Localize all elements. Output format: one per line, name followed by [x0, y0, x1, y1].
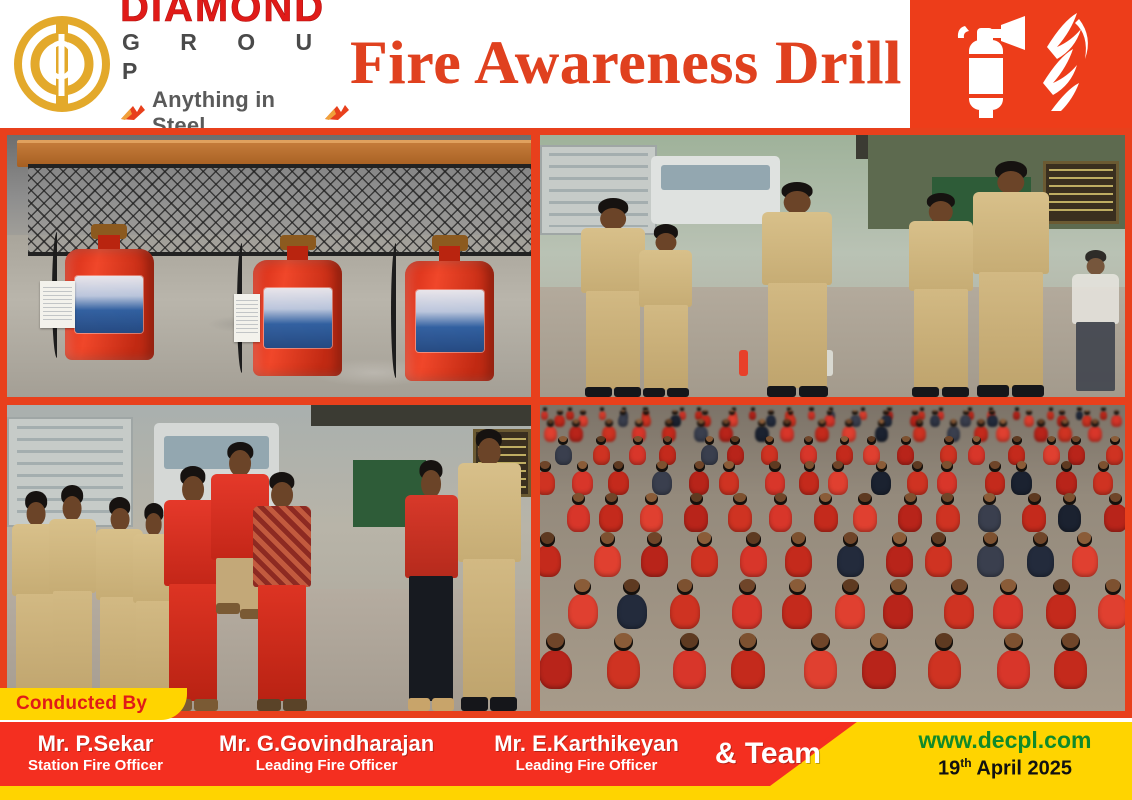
crowd-person	[541, 411, 548, 420]
header-content: DIAMOND G R O U P Anything in Steel	[0, 0, 910, 128]
crowd-person	[814, 504, 838, 532]
crowd-person-head	[697, 419, 705, 427]
poster-footer: Conducted By Mr. P.Sekar Station Fire Of…	[0, 718, 1132, 800]
officer-name: Mr. P.Sekar	[28, 732, 163, 756]
crowd-person	[1111, 415, 1122, 428]
crowd-person	[1011, 471, 1031, 495]
crowd-person-head	[999, 419, 1007, 427]
photo-gallery	[0, 128, 1132, 718]
crowd-person-head	[746, 532, 761, 547]
crowd-person	[640, 504, 664, 532]
crowd-person	[993, 594, 1023, 629]
crowd-person-head	[1061, 461, 1072, 472]
crowd-person-head	[876, 461, 887, 472]
crowd-person	[978, 504, 1002, 532]
crowd-person	[937, 471, 957, 495]
crowd-person-head	[1004, 633, 1023, 651]
crowd-person-head	[843, 532, 858, 547]
crowd-person	[1034, 426, 1048, 442]
diamond-group-emblem-icon	[14, 16, 110, 112]
crowd-person	[808, 411, 815, 420]
crowd-person-head	[832, 461, 843, 472]
crowd-person-head	[1098, 461, 1109, 472]
crowd-person	[719, 471, 739, 495]
officer-entry: Mr. E.Karthikeyan Leading Fire Officer	[484, 732, 689, 775]
crowd-person-head	[722, 419, 730, 427]
fire-awareness-drill-poster: DIAMOND G R O U P Anything in Steel	[0, 0, 1132, 800]
conducted-by-tab: Conducted By	[0, 688, 187, 720]
crowd-person-head	[647, 532, 662, 547]
crowd-person	[835, 594, 865, 629]
crowd-person	[1022, 504, 1046, 532]
crowd-person-head	[1091, 419, 1099, 427]
crowd-person	[886, 545, 913, 577]
crowd-person	[540, 650, 572, 689]
crowd-person-head	[842, 579, 859, 595]
crowd-person	[853, 504, 877, 532]
officer-entry: Mr. P.Sekar Station Fire Officer	[18, 732, 173, 775]
flame-swoosh-icon-left	[120, 104, 146, 121]
crowd-person	[928, 650, 961, 689]
fire-extinguisher-icon	[943, 10, 1027, 118]
crowd-person-head	[1053, 579, 1070, 595]
crowd-person-head	[680, 633, 699, 651]
date-day: 19	[938, 758, 960, 780]
crowd-person	[765, 471, 785, 495]
crowd-person-head	[758, 419, 766, 427]
crowd-person	[883, 594, 913, 629]
crowd-person	[815, 426, 829, 442]
crowd-person-head	[818, 419, 826, 427]
crowd-person-head	[878, 419, 886, 427]
crowd-person-head	[912, 461, 923, 472]
crowd-person	[566, 411, 573, 420]
crowd-person	[728, 504, 752, 532]
crowd-person	[540, 471, 555, 495]
officer-name: Mr. G.Govindharajan	[219, 732, 434, 756]
crowd-person-head	[540, 461, 551, 472]
crowd-person	[670, 594, 700, 629]
crowd-person	[996, 426, 1010, 442]
crowd-person-head	[697, 532, 712, 547]
crowd-person-head	[977, 419, 985, 427]
crowd-person	[569, 426, 583, 442]
crowd-person	[875, 426, 889, 442]
crowd-person-head	[557, 410, 563, 416]
crowd-person	[897, 445, 914, 465]
logo-wordmark: DIAMOND G R O U P Anything in Steel	[120, 0, 350, 139]
crowd-person-head	[845, 419, 853, 427]
crowd-person	[673, 650, 706, 689]
crowd-person-head	[577, 461, 588, 472]
crowd-person-head	[605, 419, 613, 427]
crowd-person	[785, 545, 812, 577]
crowd-person	[731, 650, 764, 689]
title-container: Fire Awareness Drill	[350, 29, 910, 99]
crowd-person	[862, 650, 895, 689]
crowd-person	[769, 504, 793, 532]
crowd-person	[540, 545, 561, 577]
crowd-person-head	[643, 410, 649, 416]
crowd-person	[689, 471, 709, 495]
website-link[interactable]: www.decpl.com	[919, 727, 1092, 753]
crowd-person	[944, 594, 974, 629]
crowd-person	[572, 471, 592, 495]
crowd-person-head	[783, 419, 791, 427]
date-suffix: th	[960, 756, 971, 770]
crowd-person-head	[892, 532, 907, 547]
crowd-person-head	[694, 461, 705, 472]
crowd-person-head	[890, 579, 907, 595]
crowd-person-head	[613, 461, 624, 472]
officer-role: Leading Fire Officer	[219, 756, 434, 776]
team-label: & Team	[715, 737, 821, 771]
crowd-person	[1072, 545, 1099, 577]
company-logo: DIAMOND G R O U P Anything in Steel	[0, 0, 350, 139]
crowd-person	[554, 415, 565, 428]
crowd-person-head	[540, 532, 555, 547]
crowd-person	[871, 471, 891, 495]
crowd-person	[607, 650, 640, 689]
crowd-person	[618, 415, 629, 428]
crowd-person	[1104, 504, 1125, 532]
crowd-person	[977, 545, 1004, 577]
crowd-person-head	[620, 410, 626, 416]
crowd-person	[766, 415, 777, 428]
officer-role: Station Fire Officer	[28, 756, 163, 776]
officer-role: Leading Fire Officer	[494, 756, 679, 776]
crowd-person-head	[739, 579, 756, 595]
crowd-person	[594, 545, 621, 577]
crowd-person	[925, 545, 952, 577]
crowd-person	[1058, 504, 1082, 532]
crowd-person-head	[983, 532, 998, 547]
crowd-person	[1100, 411, 1107, 420]
crowd-person	[555, 445, 572, 465]
crowd-person-head	[1026, 410, 1032, 416]
crowd-person-head	[1077, 532, 1092, 547]
crowd-person	[960, 415, 971, 428]
crowd-person	[1106, 445, 1123, 465]
photo-officers-demo	[540, 135, 1125, 397]
crowd-person	[568, 594, 598, 629]
crowd-person	[1058, 426, 1072, 442]
crowd-person	[1046, 594, 1076, 629]
crowd-person	[691, 545, 718, 577]
crowd-person	[828, 471, 848, 495]
crowd-person-head	[723, 461, 734, 472]
crowd-person	[701, 445, 718, 465]
photo-audience	[540, 405, 1125, 711]
officer-entry: Mr. G.Govindharajan Leading Fire Officer	[209, 732, 444, 775]
crowd-person-head	[605, 493, 618, 506]
crowd-person-head	[633, 436, 643, 445]
crowd-person	[913, 426, 927, 442]
event-date: 19th April 2025	[938, 756, 1072, 781]
crowd-person-head	[690, 493, 703, 506]
crowd-person-head	[989, 461, 1000, 472]
crowd-person-head	[656, 461, 667, 472]
crowd-person	[1054, 650, 1087, 689]
crowd-person-head	[1061, 419, 1069, 427]
crowd-person-head	[858, 493, 871, 506]
crowd-person	[684, 504, 708, 532]
officer-name: Mr. E.Karthikeyan	[494, 732, 679, 756]
crowd-person-head	[768, 410, 774, 416]
crowd-person	[1047, 411, 1054, 420]
crowd-person-head	[1000, 579, 1017, 595]
crowd-person	[968, 445, 985, 465]
crowd-person-head	[600, 532, 615, 547]
crowd-person-head	[791, 532, 806, 547]
crowd-person-head	[963, 410, 969, 416]
crowd-person-head	[789, 579, 806, 595]
crowd-person	[749, 411, 756, 420]
crowd-person-head	[916, 419, 924, 427]
officers-list: Mr. P.Sekar Station Fire Officer Mr. G.G…	[0, 722, 880, 786]
crowd-person	[732, 594, 762, 629]
crowd-person	[641, 545, 668, 577]
crowd-person	[1027, 545, 1054, 577]
brand-subtitle: G R O U P	[122, 28, 350, 86]
crowd-person	[985, 471, 1005, 495]
photo-rescue-carry	[7, 405, 531, 711]
poster-header: DIAMOND G R O U P Anything in Steel	[0, 0, 1132, 128]
crowd-person	[837, 545, 864, 577]
crowd-person	[1093, 471, 1113, 495]
crowd-person	[567, 504, 591, 532]
poster-title: Fire Awareness Drill	[350, 29, 902, 99]
crowd-person-head	[635, 419, 643, 427]
crowd-person-head	[931, 532, 946, 547]
flame-swoosh-icon-right	[324, 104, 350, 121]
crowd-person-head	[769, 461, 780, 472]
crowd-person	[652, 471, 672, 495]
crowd-person-head	[951, 579, 968, 595]
crowd-person	[593, 445, 610, 465]
crowd-person-head	[1084, 410, 1090, 416]
conducted-by-label: Conducted By	[16, 693, 147, 715]
crowd-person-head	[1033, 532, 1048, 547]
crowd-person-head	[665, 419, 673, 427]
photo-extinguishers	[7, 135, 531, 397]
crowd-person-head	[1028, 493, 1041, 506]
crowd-person	[608, 471, 628, 495]
crowd-person	[544, 426, 558, 442]
crowd-person-head	[941, 461, 952, 472]
crowd-person	[629, 445, 646, 465]
crowd-person	[1088, 426, 1102, 442]
crowd-person	[898, 504, 922, 532]
date-rest: April 2025	[972, 758, 1072, 780]
crowd-person	[1056, 471, 1076, 495]
crowd-person	[1013, 411, 1020, 420]
crowd-person	[799, 471, 819, 495]
crowd-person	[930, 415, 941, 428]
crowd-person	[782, 594, 812, 629]
crowd-person	[780, 426, 794, 442]
crowd-person-head	[1037, 419, 1045, 427]
crowd-person	[617, 594, 647, 629]
crowd-person	[740, 545, 767, 577]
crowd-person	[804, 650, 837, 689]
crowd-person	[1043, 445, 1060, 465]
crowd-person-head	[547, 419, 555, 427]
fire-safety-badge	[910, 0, 1132, 128]
footer-bottom-strip	[0, 786, 1132, 800]
brand-name: DIAMOND	[120, 0, 350, 28]
crowd-person-head	[572, 419, 580, 427]
crowd-person	[907, 471, 927, 495]
crowd-person	[1098, 594, 1125, 629]
crowd-person	[599, 504, 623, 532]
crowd-person	[997, 650, 1030, 689]
contact-block: www.decpl.com 19th April 2025	[890, 722, 1120, 786]
crowd-person	[599, 411, 606, 420]
crowd-person-head	[904, 493, 917, 506]
crowd-person-head	[804, 461, 815, 472]
crowd-person-head	[733, 493, 746, 506]
crowd-person	[1024, 415, 1035, 428]
crowd-person	[987, 415, 998, 428]
crowd-person-head	[1012, 436, 1022, 445]
crowd-person-head	[950, 419, 958, 427]
flame-icon	[1037, 11, 1099, 117]
crowd-person-head	[1016, 461, 1027, 472]
crowd-person	[936, 504, 960, 532]
